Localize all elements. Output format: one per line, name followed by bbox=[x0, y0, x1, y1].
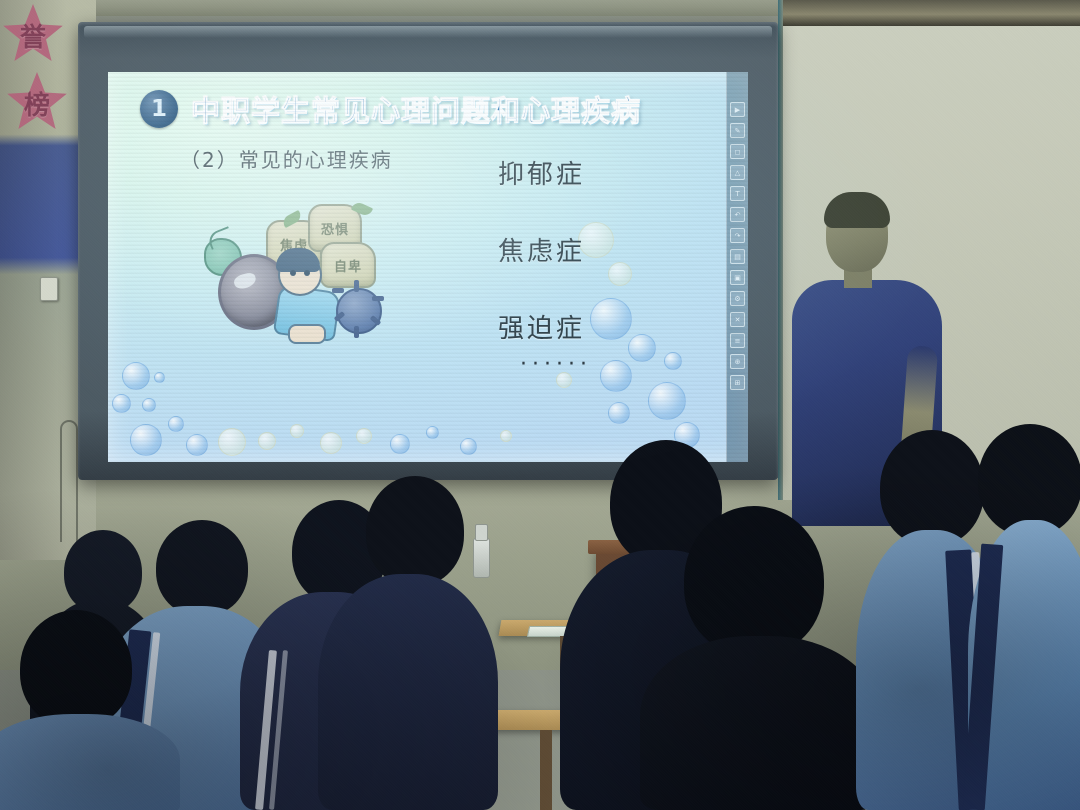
bubble-decoration bbox=[628, 334, 656, 362]
character-eye-left bbox=[290, 270, 296, 276]
sack-text-3: 自卑 bbox=[334, 256, 362, 275]
student-silhouette bbox=[0, 610, 180, 810]
whiteboard-side-toolbar[interactable]: ▶ ✎ ◻ △ T ↶ ↷ ▤ ▣ ⚙ ✕ ≡ ⊕ ⊞ bbox=[726, 72, 748, 462]
projection-screen[interactable]: 1 中职学生常见心理问题和心理疾病 （2）常见的心理疾病 焦虑 恐惧 自卑 bbox=[108, 72, 748, 462]
student-head bbox=[684, 506, 824, 656]
student-torso bbox=[640, 636, 880, 810]
bubble-decoration bbox=[608, 262, 632, 286]
bubble-decoration bbox=[320, 432, 342, 454]
virus-spike bbox=[332, 288, 344, 293]
symptom-ellipsis: ······ bbox=[520, 352, 592, 377]
sack-text-2: 恐惧 bbox=[321, 219, 349, 238]
slide-subtitle: （2）常见的心理疾病 bbox=[180, 144, 393, 173]
eraser-icon[interactable]: ◻ bbox=[730, 144, 745, 159]
bubble-decoration bbox=[168, 416, 184, 432]
student-silhouette bbox=[318, 476, 498, 810]
settings-icon[interactable]: ⚙ bbox=[730, 291, 745, 306]
presenter-role: presenter bbox=[792, 196, 793, 197]
student-torso bbox=[0, 714, 180, 810]
slide-number-badge: 1 bbox=[140, 90, 178, 128]
bubble-decoration bbox=[460, 438, 477, 455]
student-silhouette bbox=[968, 424, 1080, 810]
bubble-decoration bbox=[186, 434, 208, 456]
virus-spike bbox=[354, 280, 359, 292]
student-silhouette bbox=[640, 506, 880, 810]
symptom-item-1: 抑郁症 bbox=[498, 154, 585, 191]
bezel-highlight bbox=[84, 26, 772, 38]
virus-spike bbox=[372, 296, 384, 301]
desk-leg bbox=[540, 730, 552, 810]
bubble-decoration bbox=[218, 428, 246, 456]
classroom-photo: 誉 榜 bbox=[0, 0, 1080, 810]
student-torso bbox=[318, 574, 498, 810]
bubble-decoration bbox=[258, 432, 276, 450]
right-panel-frame bbox=[780, 0, 1080, 26]
bubble-decoration bbox=[390, 434, 410, 454]
bubble-decoration bbox=[608, 402, 630, 424]
shape-icon[interactable]: △ bbox=[730, 165, 745, 180]
light-switch[interactable] bbox=[40, 277, 58, 301]
symptom-list: 抑郁症 焦虑症 强迫症 bbox=[498, 154, 585, 345]
virus-spike bbox=[354, 326, 359, 338]
pen-icon[interactable]: ✎ bbox=[730, 123, 745, 138]
bubble-decoration bbox=[664, 352, 682, 370]
student-head bbox=[156, 520, 248, 616]
bubble-decoration bbox=[142, 398, 156, 412]
right-panel-edge bbox=[778, 0, 783, 500]
slide-title-row: 1 中职学生常见心理问题和心理疾病 bbox=[140, 88, 641, 130]
character-hair bbox=[276, 248, 320, 272]
student-head bbox=[366, 476, 464, 586]
save-icon[interactable]: ▣ bbox=[730, 270, 745, 285]
bubble-decoration bbox=[648, 382, 686, 420]
bubble-decoration bbox=[112, 394, 131, 413]
student-head bbox=[20, 610, 132, 728]
sack-label-3: 自卑 bbox=[320, 242, 376, 288]
slide-title: 中职学生常见心理问题和心理疾病 bbox=[191, 88, 641, 130]
close-icon[interactable]: ✕ bbox=[730, 312, 745, 327]
symptom-item-2: 焦虑症 bbox=[498, 231, 585, 268]
symptom-item-3: 强迫症 bbox=[498, 308, 585, 345]
bubble-decoration bbox=[356, 428, 372, 444]
redo-icon[interactable]: ↷ bbox=[730, 228, 745, 243]
bubble-decoration bbox=[590, 298, 632, 340]
bubble-decoration bbox=[154, 372, 165, 383]
bubble-decoration bbox=[500, 430, 512, 442]
bubble-decoration bbox=[122, 362, 150, 390]
hanging-cable bbox=[60, 420, 78, 542]
slide-content: 1 中职学生常见心理问题和心理疾病 （2）常见的心理疾病 焦虑 恐惧 自卑 bbox=[108, 72, 748, 462]
undo-icon[interactable]: ↶ bbox=[730, 207, 745, 222]
character-eye-right bbox=[304, 270, 310, 276]
bubble-decoration bbox=[600, 360, 632, 392]
presenter-hair bbox=[824, 192, 890, 228]
cursor-icon[interactable]: ▶ bbox=[730, 102, 745, 117]
zoom-icon[interactable]: ⊕ bbox=[730, 354, 745, 369]
grid-icon[interactable]: ⊞ bbox=[730, 375, 745, 390]
bubble-decoration bbox=[290, 424, 304, 438]
bubble-decoration bbox=[426, 426, 439, 439]
bubble-decoration bbox=[130, 424, 162, 456]
character-leg bbox=[288, 324, 326, 344]
page-icon[interactable]: ▤ bbox=[730, 249, 745, 264]
text-icon[interactable]: T bbox=[730, 186, 745, 201]
shield-vs-virus-illustration: 焦虑 恐惧 自卑 bbox=[204, 196, 394, 346]
menu-icon[interactable]: ≡ bbox=[730, 333, 745, 348]
